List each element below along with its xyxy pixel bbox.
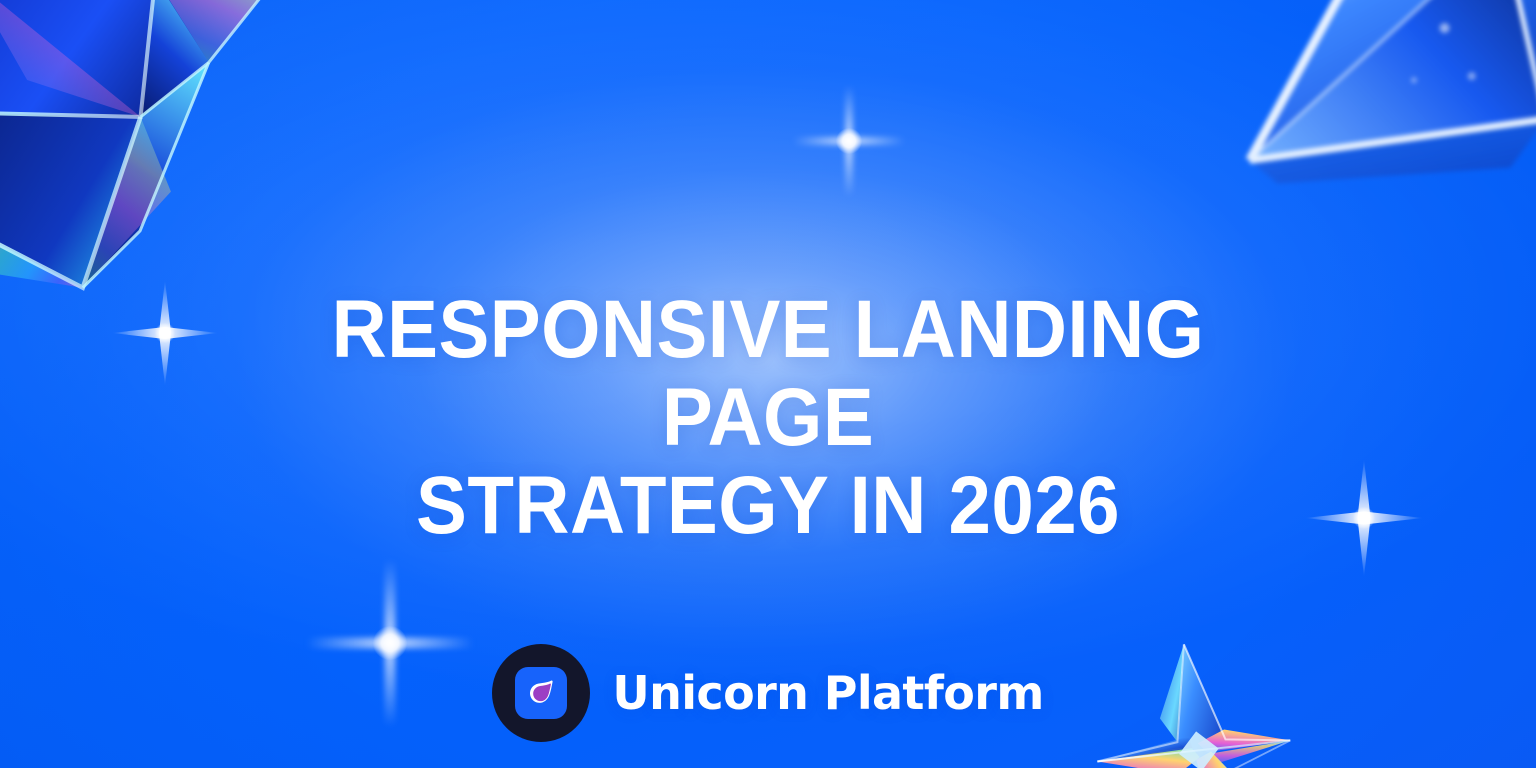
hero-banner: RESPONSIVE LANDING PAGE STRATEGY IN 2026… <box>0 0 1536 768</box>
page-title-line-2: STRATEGY IN 2026 <box>247 462 1289 550</box>
brand-logo-circle <box>492 644 590 742</box>
page-title-line-1: RESPONSIVE LANDING PAGE <box>247 286 1289 462</box>
page-title: RESPONSIVE LANDING PAGE STRATEGY IN 2026 <box>247 286 1289 550</box>
brand-lockup: Unicorn Platform <box>492 644 1043 742</box>
unicorn-leaf-icon <box>524 676 558 710</box>
brand-logo-tile <box>515 667 567 719</box>
hero-content: RESPONSIVE LANDING PAGE STRATEGY IN 2026… <box>0 0 1536 768</box>
brand-name: Unicorn Platform <box>612 666 1043 720</box>
